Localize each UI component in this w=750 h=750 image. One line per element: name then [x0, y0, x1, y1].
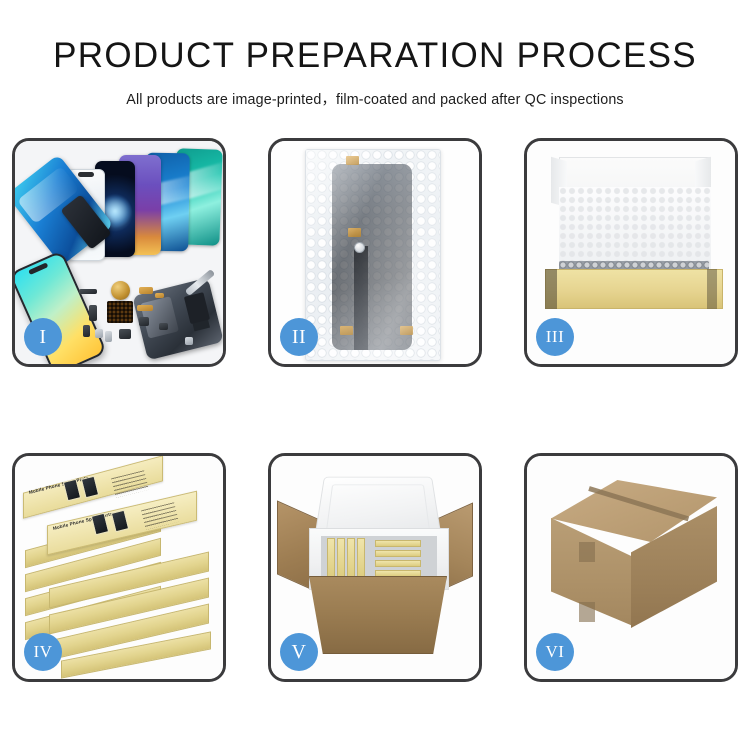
- carton-tape-lower: [579, 602, 595, 622]
- small-part-8: [119, 329, 131, 339]
- small-part-10: [155, 293, 164, 298]
- step-6-badge: VI: [536, 633, 574, 671]
- small-part-11: [159, 323, 168, 330]
- kraft-box-front: [545, 269, 723, 309]
- small-part-5: [95, 329, 103, 338]
- process-step-5: V: [268, 453, 482, 682]
- yellow-box-v4: [357, 538, 365, 578]
- small-part-3: [89, 305, 97, 321]
- yellow-box-v2: [337, 538, 345, 578]
- page-subtitle: All products are image-printed，film-coat…: [0, 88, 750, 109]
- packed-part: [332, 164, 412, 350]
- header: PRODUCT PREPARATION PROCESS All products…: [0, 0, 750, 109]
- small-part-9: [105, 331, 112, 342]
- process-step-2: II: [268, 138, 482, 367]
- carton-front-wall: [309, 576, 447, 654]
- small-part-12: [185, 337, 193, 345]
- small-part-6: [137, 305, 153, 311]
- process-step-4: Mobile Phone Spare Parts Mobile Phone Sp…: [12, 453, 226, 682]
- tape-piece-bottom-right: [400, 326, 413, 335]
- small-part-2: [139, 287, 153, 294]
- step-4-badge: IV: [24, 633, 62, 671]
- yellow-box-v1: [327, 538, 335, 578]
- camera-ring: [354, 242, 365, 253]
- process-step-6: VI: [524, 453, 738, 682]
- step-1-badge: I: [24, 318, 62, 356]
- page-title: PRODUCT PREPARATION PROCESS: [0, 38, 750, 75]
- box-edge-left: [545, 269, 557, 309]
- yellow-box-v3: [347, 538, 355, 578]
- chip-grid-part: [107, 301, 133, 323]
- step-2-badge: II: [280, 318, 318, 356]
- tape-piece-mid: [348, 228, 361, 237]
- yellow-box-h4: [375, 570, 421, 577]
- step-5-badge: V: [280, 633, 318, 671]
- speaker-coil-part: [111, 281, 130, 300]
- product-preparation-infographic: PRODUCT PREPARATION PROCESS All products…: [0, 0, 750, 750]
- small-part-7: [139, 317, 149, 326]
- carton-tape-upper: [579, 542, 595, 562]
- process-step-3: III: [524, 138, 738, 367]
- process-step-1: I: [12, 138, 226, 367]
- bubble-wrap-bag: [305, 149, 441, 361]
- small-part-1: [79, 289, 97, 294]
- yellow-box-h1: [375, 540, 421, 547]
- box-edge-right: [707, 269, 717, 309]
- yellow-box-h3: [375, 560, 421, 567]
- tape-piece-bottom-left: [340, 326, 353, 335]
- foam-sheet: [559, 187, 711, 271]
- small-part-4: [83, 325, 90, 337]
- yellow-box-h2: [375, 550, 421, 557]
- flex-cable: [354, 246, 368, 350]
- process-step-grid: I II: [12, 138, 738, 682]
- step-3-badge: III: [536, 318, 574, 356]
- tape-piece-top: [346, 156, 359, 165]
